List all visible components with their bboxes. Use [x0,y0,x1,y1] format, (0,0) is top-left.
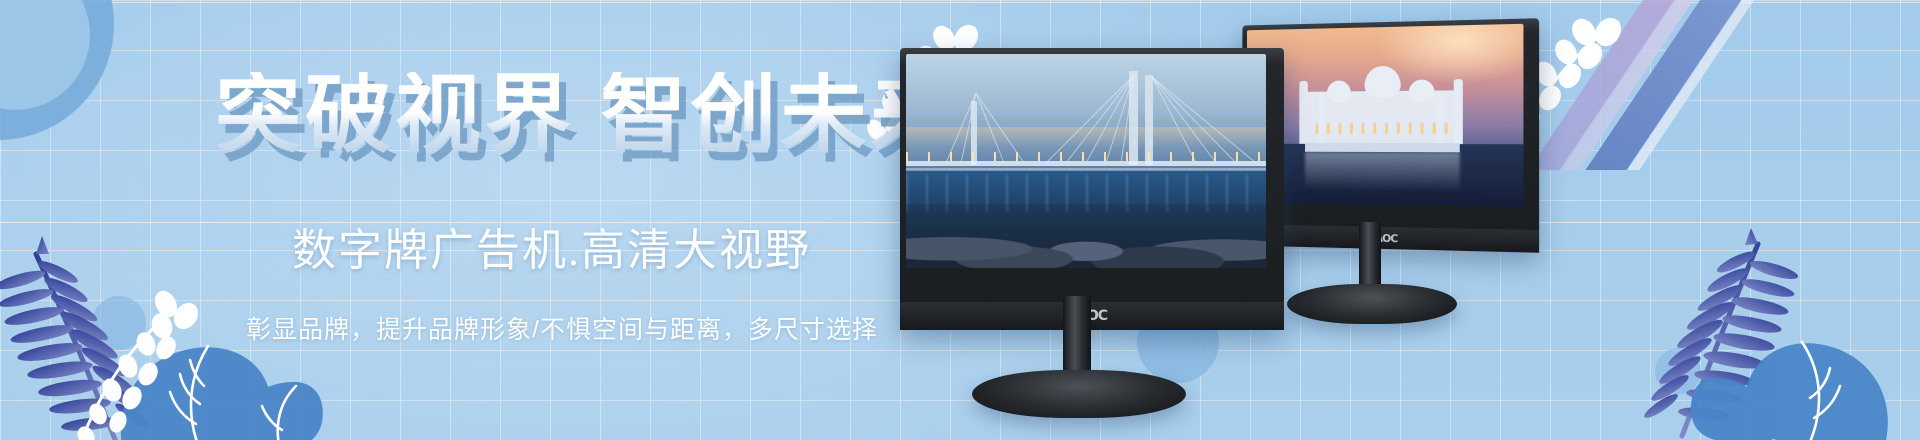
tagline: 彰显品牌，提升品牌形象/不惧空间与距离，多尺寸选择 [246,318,878,343]
page-title: 突破视界 智创未来 [215,72,961,158]
monitor-front: AOC [900,48,1284,330]
promo-banner: 突破视界 智创未来 数字牌广告机.高清大视野 彰显品牌，提升品牌形象/不惧空间与… [0,0,1920,440]
monitor-front-base [972,370,1186,418]
subtitle: 数字牌广告机.高清大视野 [292,229,811,273]
monitor-front-screen [906,54,1266,268]
monitor-front-chin: AOC [900,302,1284,330]
product-group: AOC [880,0,1920,440]
monitor-back-chin: AOC [1242,224,1539,253]
monitor-back-screen [1247,24,1523,207]
copy-block: 突破视界 智创未来 数字牌广告机.高清大视野 彰显品牌，提升品牌形象/不惧空间与… [0,0,930,440]
monitor-back-base [1287,284,1457,324]
